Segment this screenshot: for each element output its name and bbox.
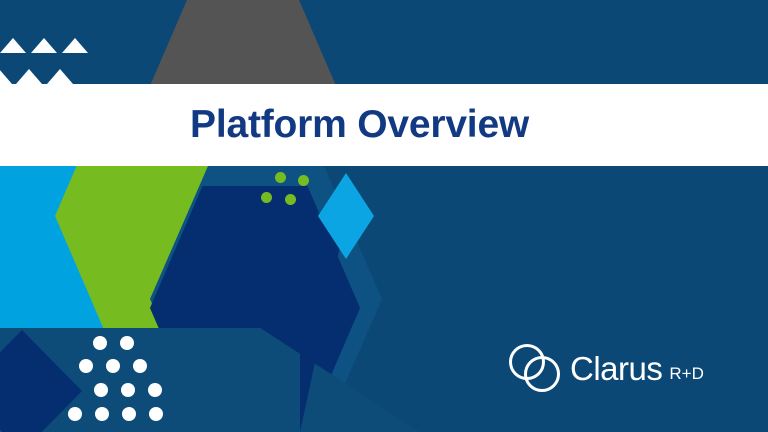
white-dot	[121, 383, 135, 397]
presentation-slide: Platform Overview Clarus R+D	[0, 0, 768, 432]
green-dot-cluster	[255, 172, 325, 212]
clarus-logo: Clarus R+D	[506, 342, 714, 394]
white-dot	[149, 407, 163, 421]
white-dot	[122, 407, 136, 421]
overlapping-circles-logo-icon	[506, 342, 564, 394]
triangle-icon	[47, 69, 73, 84]
triangle-icon	[0, 69, 12, 84]
green-dot	[285, 194, 296, 205]
triangle-icon	[31, 38, 57, 53]
title-band: Platform Overview	[0, 84, 768, 166]
green-dot	[298, 175, 309, 186]
triangle-icon	[62, 38, 88, 53]
white-dot	[68, 407, 82, 421]
logo-suffix: R+D	[669, 365, 703, 382]
white-dot	[94, 383, 108, 397]
white-dot	[148, 383, 162, 397]
white-dot-cluster	[68, 336, 178, 428]
page-title: Platform Overview	[190, 103, 529, 147]
white-dot	[79, 359, 93, 373]
white-dot	[106, 359, 120, 373]
green-dot	[261, 192, 272, 203]
triangle-motif	[0, 32, 100, 88]
logo-wordmark: Clarus	[570, 352, 662, 385]
white-dot	[93, 336, 107, 350]
white-dot	[133, 359, 147, 373]
green-dot	[275, 172, 286, 183]
triangle-icon	[0, 38, 26, 53]
white-dot	[120, 336, 134, 350]
white-dot	[95, 407, 109, 421]
triangle-icon	[16, 69, 42, 84]
